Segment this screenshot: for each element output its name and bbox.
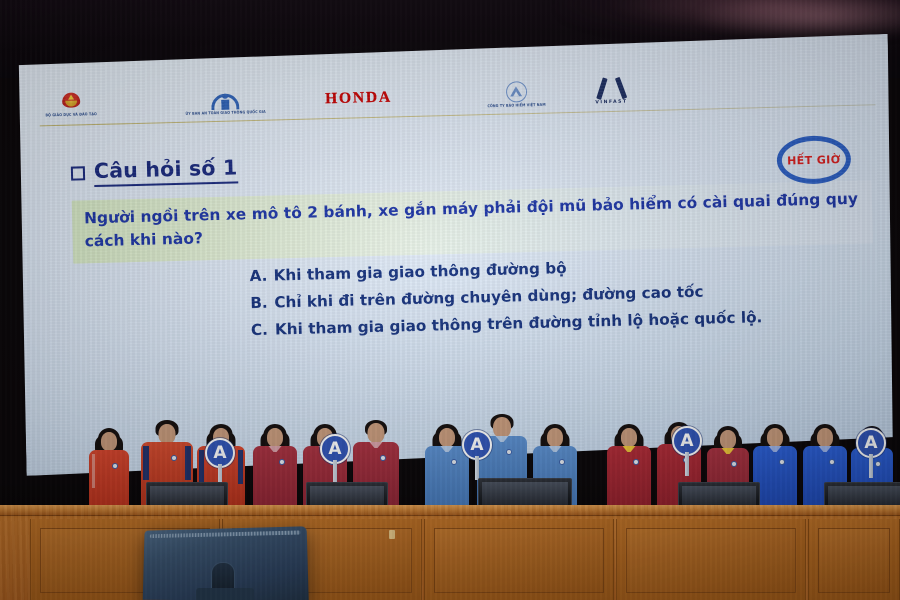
answer-paddle[interactable]: A: [205, 438, 235, 468]
question-heading: Câu hỏi số 1: [71, 156, 238, 187]
triangle-circle-icon: [505, 81, 527, 103]
answer-paddle-letter: A: [864, 435, 877, 452]
answer-paddle[interactable]: A: [856, 428, 886, 458]
vinfast-wordmark: VINFAST: [595, 100, 627, 106]
answer-paddle-handle: [685, 452, 689, 476]
contestant-desk: [0, 505, 900, 600]
head: [159, 424, 176, 444]
answer-paddle-letter: A: [680, 433, 693, 450]
foreground-monitor-stand: [196, 588, 254, 600]
question-text: Người ngồi trên xe mô tô 2 bánh, xe gắn …: [84, 188, 863, 254]
timer-badge: HẾT GIỜ: [776, 135, 851, 185]
answer-paddle[interactable]: A: [672, 426, 702, 456]
desk-panel: [808, 519, 900, 600]
vinfast-v-icon: [596, 78, 627, 100]
head: [439, 428, 455, 447]
square-bullet-icon: [71, 167, 85, 181]
head: [101, 432, 117, 451]
option-a-key: A.: [249, 267, 273, 286]
head: [767, 428, 783, 447]
desk-panel: [616, 519, 806, 600]
option-c-key: C.: [251, 321, 275, 340]
honda-wordmark: HONDA: [325, 89, 392, 106]
ntsc-emblem-caption: ỦY BAN AN TOÀN GIAO THÔNG QUỐC GIA: [185, 109, 265, 116]
answer-options: A. Khi tham gia giao thông đường bộ B. C…: [249, 249, 851, 346]
answer-paddle-handle: [869, 454, 873, 478]
answer-paddle-letter: A: [328, 441, 341, 458]
honda-logo: HONDA: [325, 89, 392, 106]
ntsc-emblem-icon: [211, 90, 239, 110]
insurer-emblem: CÔNG TY BẢO HIỂM VIỆT NAM: [487, 80, 546, 108]
answer-paddle[interactable]: A: [462, 430, 492, 460]
vinfast-logo: VINFAST: [595, 78, 628, 106]
head: [817, 428, 833, 447]
answer-paddle[interactable]: A: [320, 434, 350, 464]
ntsc-emblem: ỦY BAN AN TOÀN GIAO THÔNG QUỐC GIA: [185, 89, 266, 116]
question-number-label: Câu hỏi số 1: [94, 156, 238, 186]
option-b-key: B.: [250, 294, 274, 313]
head: [368, 423, 385, 443]
head: [493, 417, 511, 438]
answer-paddle-letter: A: [213, 445, 226, 462]
head: [720, 430, 736, 449]
insurer-emblem-caption: CÔNG TY BẢO HIỂM VIỆT NAM: [487, 102, 545, 108]
head: [267, 428, 283, 447]
moet-emblem-caption: BỘ GIÁO DỤC VÀ ĐÀO TẠO: [45, 112, 97, 118]
head: [547, 428, 563, 447]
stage-scene: BỘ GIÁO DỤC VÀ ĐÀO TẠO ỦY BAN AN TOÀN GI…: [0, 0, 900, 600]
monitor-vent: [150, 530, 301, 538]
moet-emblem: BỘ GIÁO DỤC VÀ ĐÀO TẠO: [45, 90, 97, 117]
desk-latch: [389, 530, 395, 539]
timer-badge-label: HẾT GIỜ: [787, 153, 841, 167]
moet-emblem-icon: [60, 91, 82, 112]
head: [621, 428, 637, 447]
desk-panel: [424, 519, 614, 600]
answer-paddle-letter: A: [470, 437, 483, 454]
